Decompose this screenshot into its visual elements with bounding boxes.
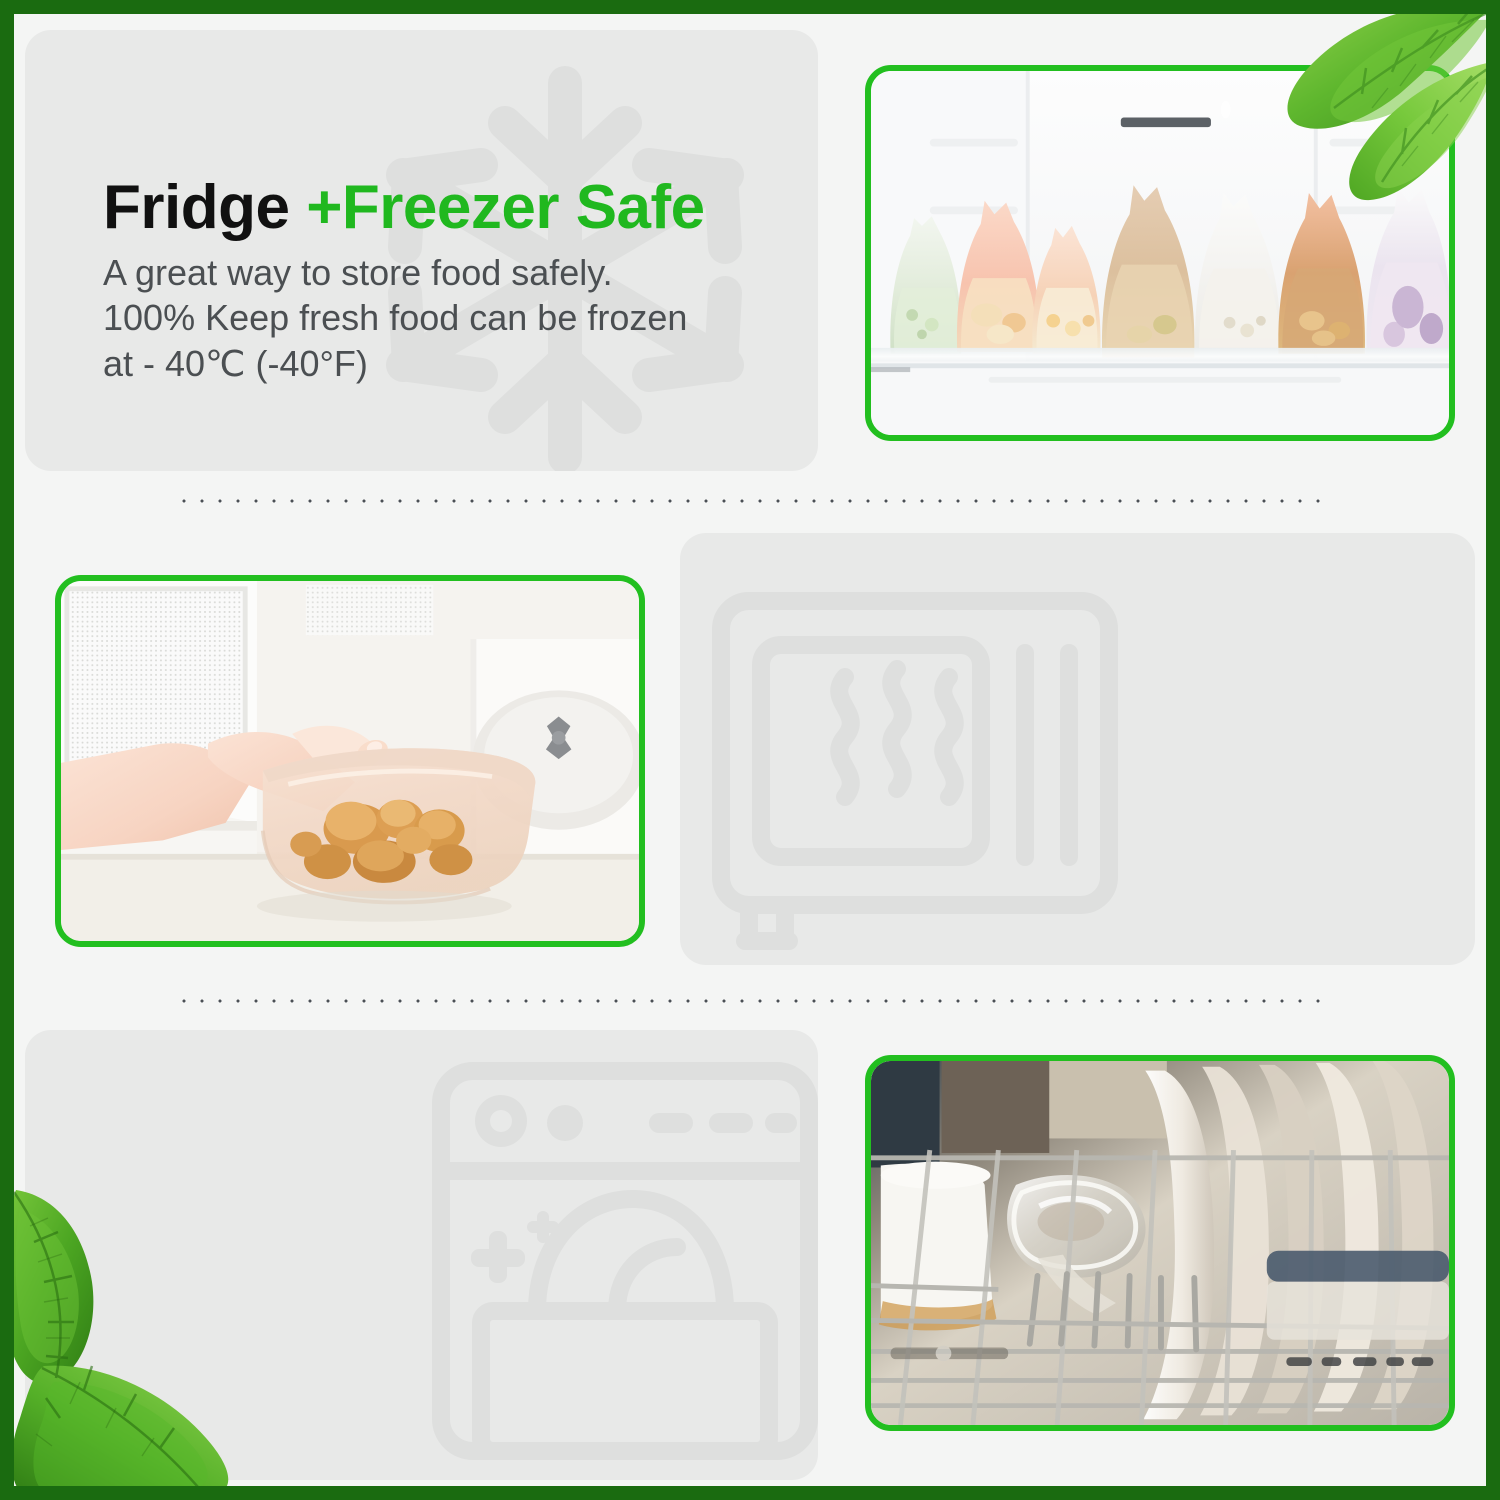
fridge-text-block: Fridge +Freezer Safe A great way to stor… bbox=[103, 175, 803, 386]
fridge-headline-black: Fridge bbox=[103, 173, 289, 242]
section-card-fridge: Fridge +Freezer Safe A great way to stor… bbox=[25, 30, 818, 471]
infographic-page: Fridge +Freezer Safe A great way to stor… bbox=[0, 0, 1500, 1500]
section-card-dishwasher: Dishwasher Safe & Easy Cleaning Seamless… bbox=[25, 1030, 818, 1480]
microwave-illustration bbox=[61, 581, 639, 941]
fridge-body-line-2: 100% Keep fresh food can be frozen bbox=[103, 295, 803, 340]
fridge-photo-inner bbox=[871, 71, 1449, 435]
fridge-headline-accent: +Freezer Safe bbox=[306, 173, 704, 242]
fridge-headline: Fridge +Freezer Safe bbox=[103, 175, 803, 240]
fridge-illustration bbox=[871, 71, 1449, 435]
dishwasher-icon bbox=[425, 1055, 818, 1465]
dishwasher-illustration bbox=[871, 1061, 1449, 1425]
microwave-bag-photo bbox=[55, 575, 645, 947]
microwave-icon bbox=[705, 573, 1125, 963]
fridge-body: A great way to store food safely. 100% K… bbox=[103, 250, 803, 386]
infographic-canvas: Fridge +Freezer Safe A great way to stor… bbox=[14, 14, 1486, 1486]
fridge-body-line-3: at - 40℃ (-40°F) bbox=[103, 341, 803, 386]
fridge-body-line-1: A great way to store food safely. bbox=[103, 250, 803, 295]
fridge-shelf-photo bbox=[865, 65, 1455, 441]
dotted-divider-1 bbox=[175, 499, 1320, 503]
microwave-photo-inner bbox=[61, 581, 639, 941]
section-card-microwave: Microwave Safe Ideal for reheating lefto… bbox=[680, 533, 1475, 965]
dotted-divider-2 bbox=[175, 999, 1320, 1003]
dishwasher-photo-inner bbox=[871, 1061, 1449, 1425]
dishwasher-rack-photo bbox=[865, 1055, 1455, 1431]
